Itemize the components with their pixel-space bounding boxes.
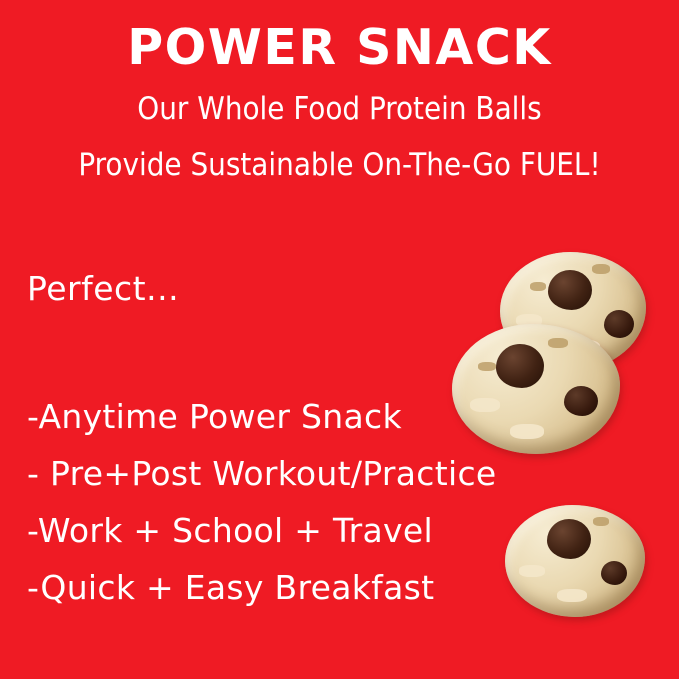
oat-fleck [478, 362, 496, 371]
list-item: - Pre+Post Workout/Practice [27, 457, 547, 490]
subhead-line-2: Provide Sustainable On-The-Go FUEL! [0, 148, 679, 184]
protein-ball-cluster-top [452, 252, 672, 442]
section-label-perfect: Perfect... [27, 269, 179, 308]
chocolate-chip [547, 519, 591, 559]
protein-ball-cluster-bottom [505, 505, 655, 635]
chocolate-chip [496, 344, 544, 388]
protein-ball [452, 324, 620, 454]
oat-fleck [593, 517, 609, 526]
oat-fleck [592, 264, 610, 274]
chocolate-chip [564, 386, 598, 416]
list-item: -Work + School + Travel [27, 514, 547, 547]
list-item: -Quick + Easy Breakfast [27, 571, 547, 604]
oat-fleck [519, 565, 545, 577]
page-title: POWER SNACK [0, 22, 679, 73]
chocolate-chip [601, 561, 627, 585]
oat-fleck [548, 338, 568, 348]
protein-ball [505, 505, 645, 617]
oat-fleck [510, 424, 544, 439]
subhead-line-1: Our Whole Food Protein Balls [0, 92, 679, 128]
oat-fleck [557, 589, 587, 602]
chocolate-chip [548, 270, 592, 310]
promo-poster: POWER SNACK Our Whole Food Protein Balls… [0, 0, 679, 679]
chocolate-chip [604, 310, 634, 338]
oat-fleck [470, 398, 500, 412]
oat-fleck [530, 282, 546, 291]
